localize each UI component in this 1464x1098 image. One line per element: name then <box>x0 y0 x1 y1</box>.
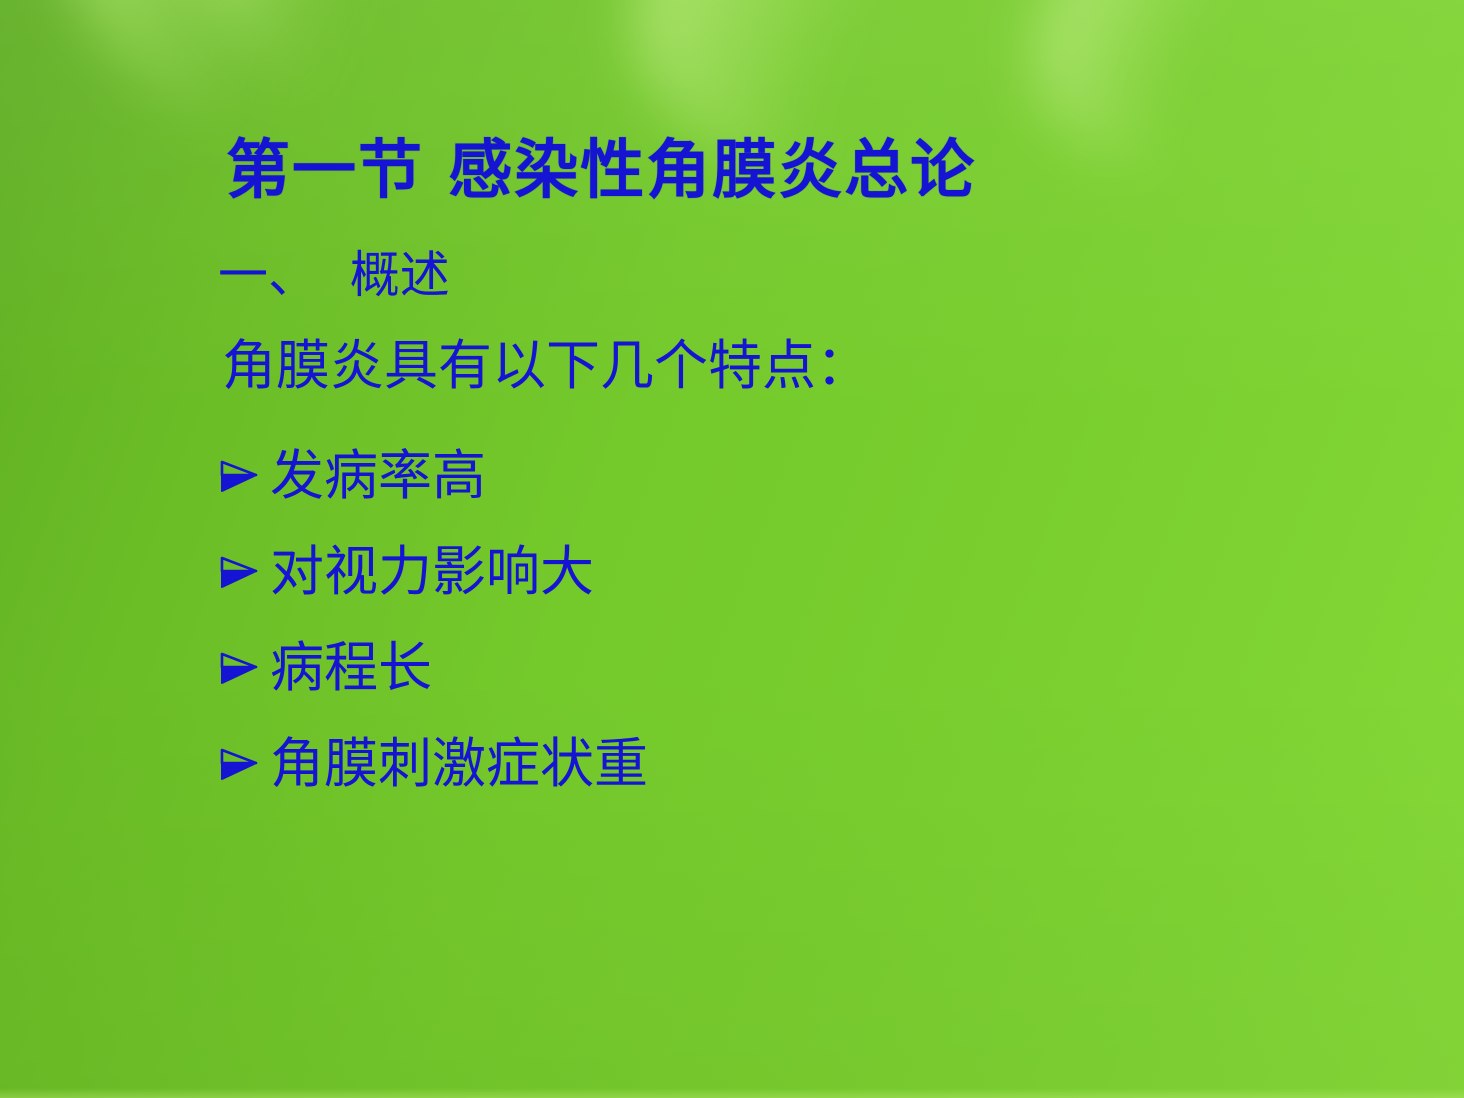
list-item: 对视力影响大 <box>218 524 648 620</box>
lead-paragraph: 角膜炎具有以下几个特点： <box>222 336 870 395</box>
list-item: 角膜刺激症状重 <box>218 716 648 812</box>
list-item: 病程长 <box>218 620 648 716</box>
arrow-bullet-icon <box>218 550 270 594</box>
feature-bullet-list: 发病率高 对视力影响大 病程长 <box>218 428 648 812</box>
arrow-bullet-icon <box>218 742 270 786</box>
arrow-bullet-icon <box>218 454 270 498</box>
list-item-label: 病程长 <box>270 640 432 697</box>
slide-content: 第一节 感染性角膜炎总论 一、 概述 角膜炎具有以下几个特点： 发病率高 <box>0 0 1464 1098</box>
list-item-label: 对视力影响大 <box>270 544 594 601</box>
list-item: 发病率高 <box>218 428 648 524</box>
slide-title: 第一节 感染性角膜炎总论 <box>226 136 976 205</box>
list-item-label: 发病率高 <box>270 448 486 505</box>
list-item-label: 角膜刺激症状重 <box>270 736 648 793</box>
arrow-bullet-icon <box>218 646 270 690</box>
presentation-slide: 第一节 感染性角膜炎总论 一、 概述 角膜炎具有以下几个特点： 发病率高 <box>0 0 1464 1098</box>
section-heading: 一、 概述 <box>218 248 450 303</box>
